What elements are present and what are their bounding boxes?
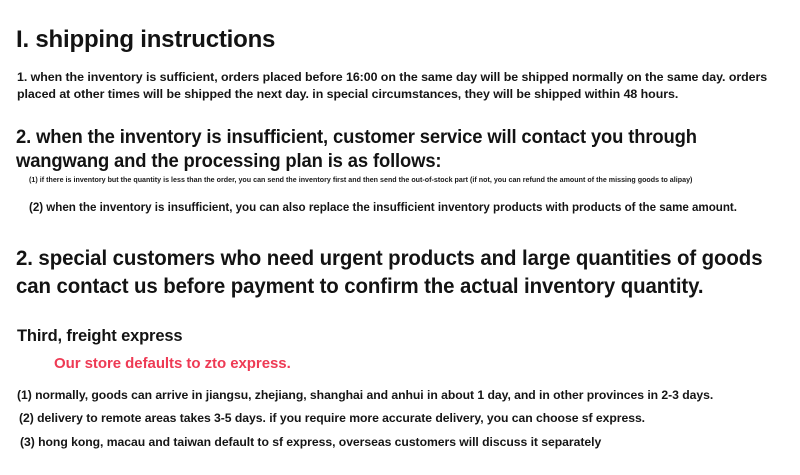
- freight-line-1: (1) normally, goods can arrive in jiangs…: [17, 388, 792, 404]
- shipping-instructions-page: I. shipping instructions 1. when the inv…: [0, 0, 800, 475]
- freight-default-carrier-highlight: Our store defaults to zto express.: [54, 355, 291, 372]
- freight-express-heading: Third, freight express: [17, 327, 182, 346]
- page-title: I. shipping instructions: [16, 27, 275, 53]
- shipping-item-1-text: 1. when the inventory is sufficient, ord…: [17, 69, 783, 102]
- freight-line-3: (3) hong kong, macau and taiwan default …: [20, 435, 795, 451]
- shipping-item-2-sub: (2) when the inventory is insufficient, …: [29, 200, 779, 216]
- freight-line-2: (2) delivery to remote areas takes 3-5 d…: [19, 411, 794, 427]
- shipping-item-3-heading: 2. special customers who need urgent pro…: [16, 245, 767, 301]
- shipping-item-2-heading: 2. when the inventory is insufficient, c…: [16, 125, 753, 174]
- shipping-item-2-note: (1) if there is inventory but the quanti…: [29, 176, 769, 185]
